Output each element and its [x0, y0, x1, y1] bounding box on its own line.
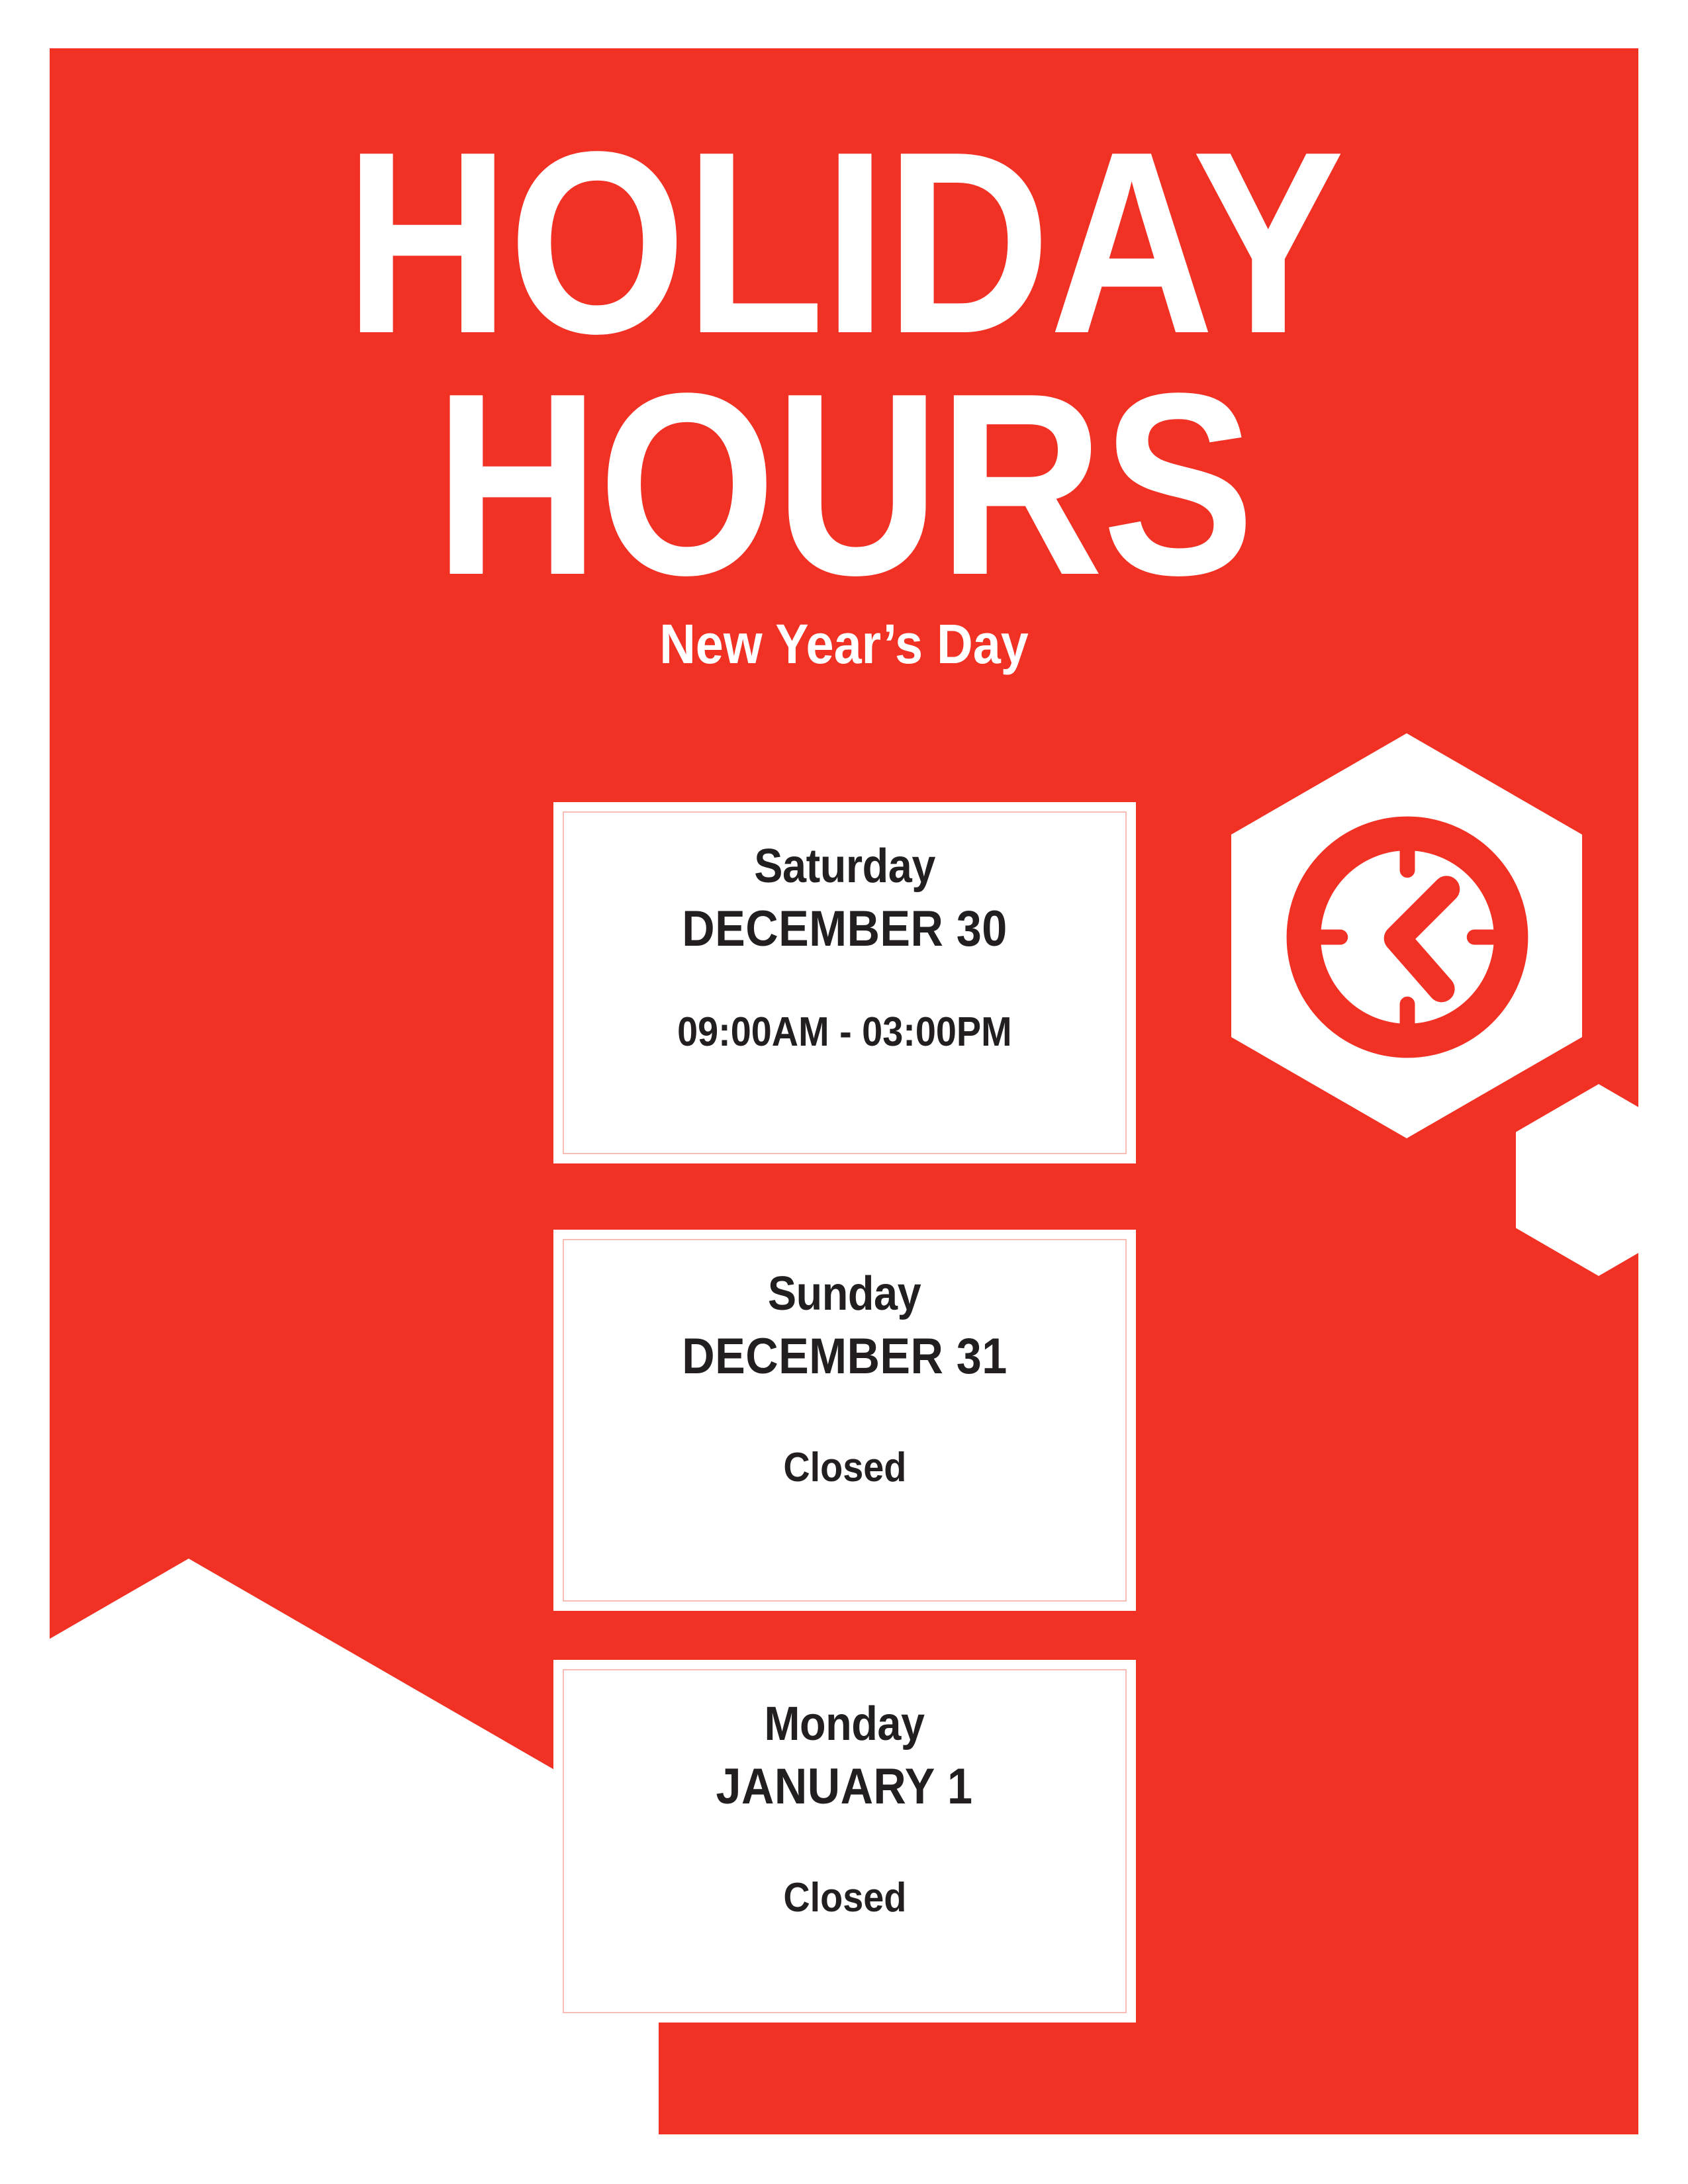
- schedule-card-inner: Saturday DECEMBER 30 09:00AM - 03:00PM: [563, 811, 1127, 1154]
- title-line-2: HOURS: [145, 364, 1543, 606]
- title-line-1: HOLIDAY: [145, 122, 1543, 364]
- schedule-card: Monday JANUARY 1 Closed: [553, 1660, 1136, 2023]
- schedule-hours-label: Closed: [783, 1876, 906, 1919]
- schedule-day-label: Saturday: [754, 842, 935, 892]
- schedule-day-label: Monday: [765, 1700, 925, 1750]
- schedule-card: Sunday DECEMBER 31 Closed: [553, 1230, 1136, 1611]
- schedule-day-label: Sunday: [768, 1269, 921, 1320]
- schedule-hours-label: 09:00AM - 03:00PM: [677, 1011, 1012, 1054]
- schedule-date-label: JANUARY 1: [716, 1760, 973, 1813]
- holiday-hours-poster: HOLIDAY HOURS New Year’s Day Saturday DE…: [0, 0, 1688, 2184]
- schedule-hours-label: Closed: [783, 1446, 906, 1489]
- clock-icon: [1281, 811, 1534, 1064]
- page-subtitle: New Year’s Day: [129, 612, 1559, 676]
- schedule-date-label: DECEMBER 31: [682, 1330, 1007, 1383]
- schedule-card-inner: Sunday DECEMBER 31 Closed: [563, 1239, 1127, 1602]
- schedule-card: Saturday DECEMBER 30 09:00AM - 03:00PM: [553, 802, 1136, 1163]
- schedule-date-label: DECEMBER 30: [682, 903, 1007, 956]
- page-title: HOLIDAY HOURS: [145, 122, 1543, 605]
- schedule-card-inner: Monday JANUARY 1 Closed: [563, 1669, 1127, 2013]
